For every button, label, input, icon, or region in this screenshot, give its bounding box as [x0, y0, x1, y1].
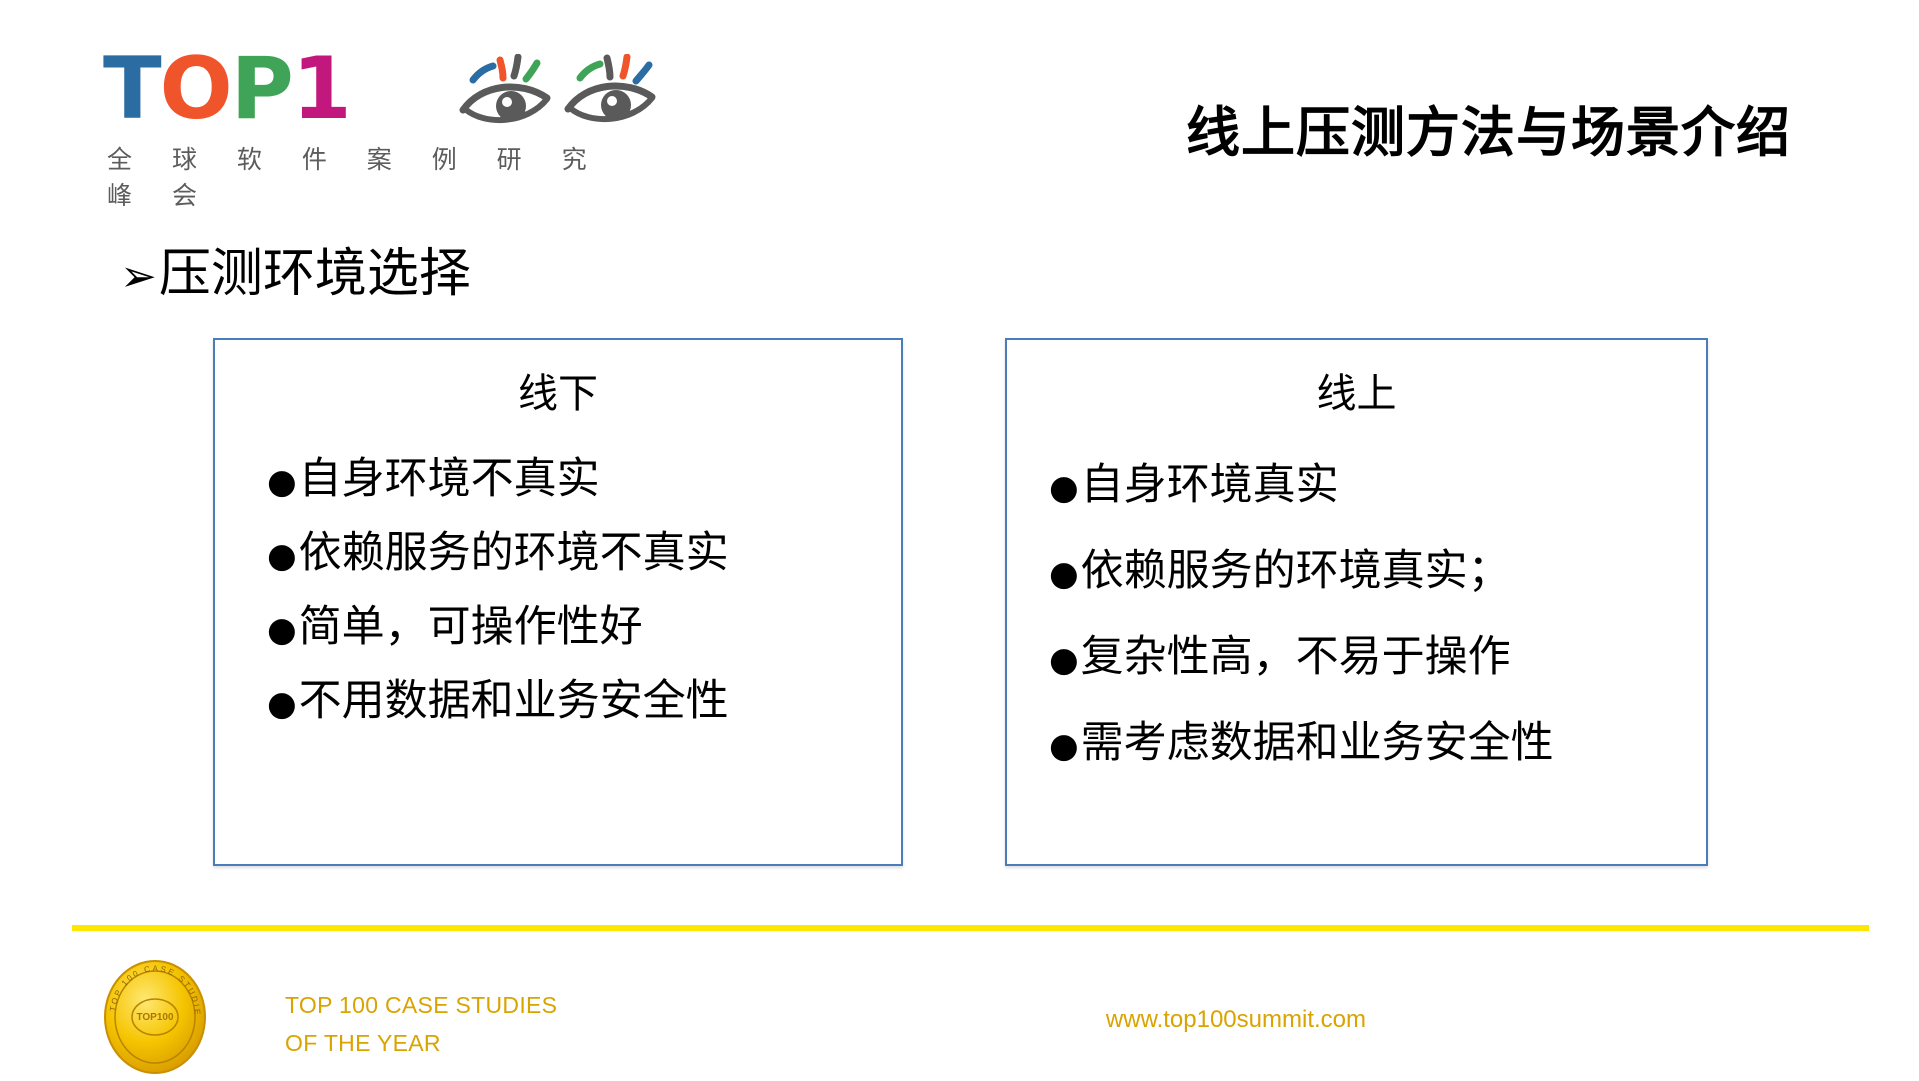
list-item: ● 复杂性高，不易于操作	[1049, 622, 1706, 684]
list-item: ● 依赖服务的环境不真实	[267, 518, 901, 580]
logo-subtitle-line-2: 峰 会	[107, 176, 213, 212]
logo-wordmark: T O P 1	[103, 48, 350, 130]
bullet-icon: ●	[1049, 557, 1079, 591]
list-item: ● 不用数据和业务安全性	[267, 666, 901, 728]
footer-url: www.top100summit.com	[1106, 1006, 1366, 1034]
panel-offline: 线下 ● 自身环境不真实 ● 依赖服务的环境不真实 ● 简单，可操作性好 ● 不…	[213, 338, 903, 866]
list-item: ● 简单，可操作性好	[267, 592, 901, 654]
list-item-label: 自身环境真实	[1081, 450, 1339, 512]
panel-online-list: ● 自身环境真实 ● 依赖服务的环境真实； ● 复杂性高，不易于操作 ● 需考虑…	[1007, 450, 1706, 770]
list-item-label: 依赖服务的环境真实；	[1081, 536, 1511, 598]
footer-brand-line-1: TOP 100 CASE STUDIES	[285, 986, 557, 1024]
bullet-icon: ●	[1049, 643, 1079, 677]
list-item-label: 复杂性高，不易于操作	[1081, 622, 1511, 684]
list-item: ● 依赖服务的环境真实；	[1049, 536, 1706, 598]
logo-letter-p: P	[231, 48, 292, 130]
list-item: ● 自身环境真实	[1049, 450, 1706, 512]
footer-brand-line-2: OF THE YEAR	[285, 1024, 557, 1062]
logo-letter-one: 1	[292, 48, 350, 130]
bullet-icon: ●	[1049, 729, 1079, 763]
panel-online-title: 线上	[1007, 372, 1706, 416]
bullet-icon: ●	[267, 687, 297, 721]
logo-letter-t: T	[103, 48, 160, 130]
bullet-icon: ●	[267, 539, 297, 573]
list-item-label: 不用数据和业务安全性	[299, 666, 729, 728]
list-item: ● 自身环境不真实	[267, 444, 901, 506]
panel-offline-list: ● 自身环境不真实 ● 依赖服务的环境不真实 ● 简单，可操作性好 ● 不用数据…	[215, 444, 901, 728]
panel-online: 线上 ● 自身环境真实 ● 依赖服务的环境真实； ● 复杂性高，不易于操作 ● …	[1005, 338, 1708, 866]
page-title: 线上压测方法与场景介绍	[1186, 88, 1791, 167]
bullet-icon: ●	[267, 613, 297, 647]
list-item-label: 自身环境不真实	[299, 444, 600, 506]
svg-text:TOP100: TOP100	[136, 1012, 173, 1023]
list-item: ● 需考虑数据和业务安全性	[1049, 708, 1706, 770]
list-item-label: 依赖服务的环境不真实	[299, 518, 729, 580]
list-item-label: 需考虑数据和业务安全性	[1081, 708, 1554, 770]
logo-letter-o: O	[160, 48, 231, 130]
footer-divider	[72, 925, 1869, 931]
section-heading-label: 压测环境选择	[159, 248, 471, 300]
logo-subtitle-line-1: 全 球 软 件 案 例 研 究	[107, 140, 603, 176]
eyes-icon	[455, 54, 667, 132]
arrow-bullet-icon: ➢	[120, 255, 157, 299]
bullet-icon: ●	[1049, 471, 1079, 505]
brand-logo: T O P 1 全 球 软 件 案 例 研 究	[103, 48, 683, 218]
seal-badge-icon: TOP 100 CASE STUDIES IN IT TOP100	[96, 958, 214, 1076]
footer-brand: TOP 100 CASE STUDIES OF THE YEAR	[285, 986, 557, 1062]
bullet-icon: ●	[267, 465, 297, 499]
list-item-label: 简单，可操作性好	[299, 592, 643, 654]
panel-offline-title: 线下	[215, 372, 901, 416]
section-heading: ➢ 压测环境选择	[120, 248, 471, 300]
